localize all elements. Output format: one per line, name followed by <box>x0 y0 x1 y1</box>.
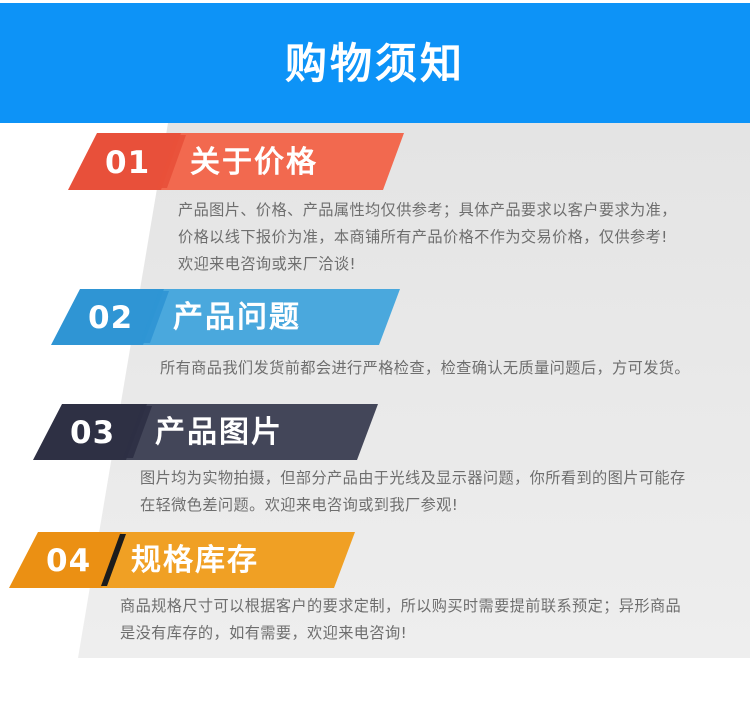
section-body-04: 商品规格尺寸可以根据客户的要求定制，所以购买时需要提前联系预定；异形商品 是没有… <box>120 593 740 647</box>
section-title-04: 规格库存 <box>131 546 259 576</box>
shopping-notice-infographic: 购物须知 <box>0 0 750 716</box>
section-body-01: 产品图片、价格、产品属性均仅供参考；具体产品要求以客户要求为准， 价格以线下报价… <box>178 197 738 278</box>
section-number-04: 04 <box>46 546 91 577</box>
section-body-02: 所有商品我们发货前都会进行严格检查，检查确认无质量问题后，方可发货。 <box>160 355 740 382</box>
section-title-01: 关于价格 <box>190 148 318 178</box>
section-number-03: 03 <box>70 418 115 449</box>
section-title-03: 产品图片 <box>155 418 283 448</box>
section-number-02: 02 <box>88 303 133 334</box>
header-banner: 购物须知 <box>0 3 750 123</box>
section-number-01: 01 <box>105 148 150 179</box>
section-body-03: 图片均为实物拍摄，但部分产品由于光线及显示器问题，你所看到的图片可能存 在轻微色… <box>140 465 740 519</box>
section-title-02: 产品问题 <box>173 303 301 333</box>
page-title: 购物须知 <box>285 43 465 85</box>
